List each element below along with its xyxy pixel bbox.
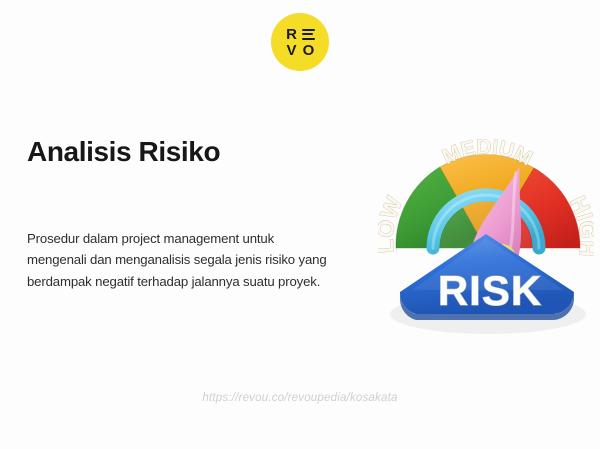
source-url-text: https://revou.co/revoupedia/kosakata [0,392,600,404]
logo-letter-o: O [303,43,315,58]
page-description: Prosedur dalam project management untuk … [27,228,327,292]
logo-letter-v: V [286,43,296,58]
page-title: Analisis Risiko [27,136,357,168]
gauge-base-label: RISK [438,267,542,314]
logo-letter-grid: R V O [283,26,317,58]
logo-letter-e-bars-icon [302,29,315,40]
revou-logo: R V O [271,13,329,71]
slide-canvas: R V O Analisis Risiko Prosedur dalam pro… [0,0,600,449]
risk-gauge-illustration: LOW MEDIUM HIGH RISK [378,108,594,336]
logo-letter-r: R [286,27,297,42]
